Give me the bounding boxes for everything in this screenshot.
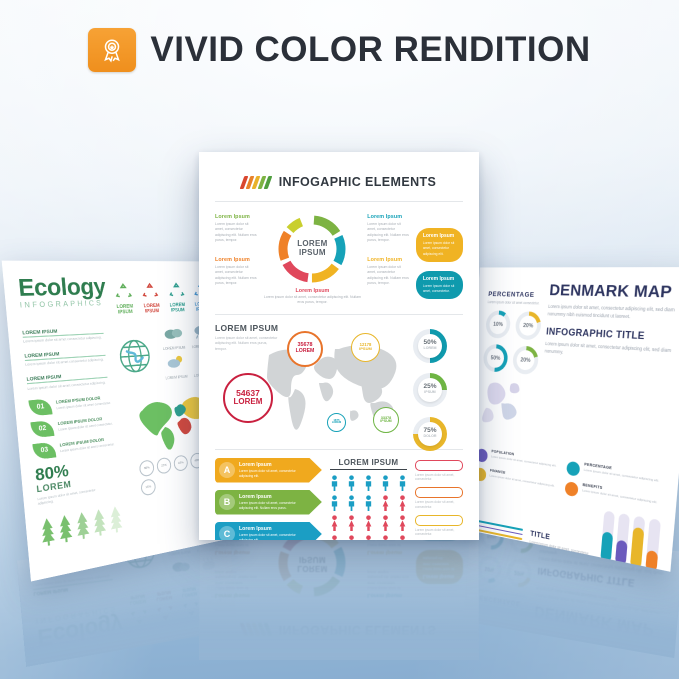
arrow-step[interactable]: C Lorem Ipsum Lorem ipsum dolor sit amet… bbox=[215, 522, 322, 541]
recycle-icon bbox=[141, 282, 160, 297]
center-header: INFOGAPHIC ELEMENTS bbox=[215, 166, 463, 193]
arrow-step[interactable]: A Lorem Ipsum Lorem ipsum dolor sit amet… bbox=[215, 458, 322, 483]
donut-label-title: Lorem Ipsum bbox=[215, 214, 258, 220]
step-title: Lorem Ipsum bbox=[239, 494, 301, 500]
bottom-section: A Lorem Ipsum Lorem ipsum dolor sit amet… bbox=[215, 458, 463, 541]
eco-stat: 80% LOREM Lorem ipsum dolor sit amet, co… bbox=[35, 454, 136, 507]
step-letter: A bbox=[219, 462, 235, 478]
weather-label: LOREM IPSUM bbox=[162, 345, 187, 351]
donut-label-title: Lorem Ipsum bbox=[215, 549, 258, 555]
tube-label: 75% bbox=[614, 565, 625, 572]
percent-ring-value: 25% IPSUM bbox=[418, 378, 442, 402]
callout-title: LOREM IPSUM bbox=[33, 580, 113, 598]
center-title: INFOGAPHIC ELEMENTS bbox=[279, 175, 437, 189]
donut-chart: LOREM IPSUM bbox=[275, 212, 349, 286]
pill-card-list: Lorem Ipsum Lorem ipsum dolor sit amet, … bbox=[416, 540, 463, 602]
denmark-sub-body: Lorem ipsum dolor sit amet, consectetur … bbox=[544, 340, 676, 363]
percent-ring: 20% bbox=[515, 311, 542, 340]
recycle-label: LOREM bbox=[179, 590, 200, 598]
donut-labels-left: Lorem Ipsum Lorem ipsum dolor sit amet, … bbox=[215, 210, 258, 306]
denmark-content: PERCENTAGE Lorem ipsum dolor sit amet co… bbox=[460, 267, 679, 572]
step-body: Lorem ipsum dolor sit amet, consectetur … bbox=[239, 501, 301, 511]
donut-label: Lorem Ipsum Lorem ipsum dolor sit amet, … bbox=[264, 288, 362, 306]
donut-label-title: Lorem Ipsum bbox=[215, 592, 258, 598]
center-title: INFOGAPHIC ELEMENTS bbox=[279, 623, 437, 637]
people-rule bbox=[330, 469, 407, 471]
person-icon bbox=[347, 495, 356, 511]
ecology-title: Ecology bbox=[36, 597, 226, 650]
donut-label: Lorem Ipsum Lorem ipsum dolor sit amet, … bbox=[215, 568, 258, 598]
tube-bar bbox=[600, 511, 615, 563]
map-pin-badge: 15% bbox=[140, 478, 156, 496]
percent-ring: 50% bbox=[483, 344, 509, 373]
denmark-title: DENMARK MAP bbox=[534, 602, 664, 641]
recycle-label: IPSUM bbox=[126, 592, 148, 601]
donut-label: Lorem Ipsum Lorem ipsum dolor sit amet, … bbox=[367, 540, 410, 555]
donut-label-title: Lorem Ipsum bbox=[367, 549, 410, 555]
person-icon bbox=[330, 495, 339, 511]
divider bbox=[215, 201, 463, 202]
callout-item: LOREM IPSUM Lorem ipsum dolor sit amet c… bbox=[24, 348, 105, 368]
striped-slash-logo bbox=[239, 624, 272, 637]
leaf-icon: 01 bbox=[28, 398, 52, 416]
recycle-item: LOREM IPSUM bbox=[112, 283, 137, 316]
people-row bbox=[330, 495, 407, 511]
people-title: LOREM IPSUM bbox=[330, 458, 407, 467]
striped-slash-logo bbox=[239, 176, 272, 189]
percent-ring: 20% bbox=[506, 558, 533, 589]
award-ribbon-icon bbox=[88, 28, 136, 72]
percent-ring-value: 50% LOREM bbox=[418, 334, 442, 358]
page-title: VIVID COLOR RENDITION bbox=[150, 30, 590, 70]
person-icon bbox=[330, 535, 339, 540]
person-icon bbox=[398, 495, 407, 511]
bar-pill bbox=[415, 515, 463, 526]
weather-item: LOREM IPSUM bbox=[163, 353, 189, 380]
step-title: Lorem Ipsum bbox=[239, 526, 301, 532]
donut-labels-right: Lorem Ipsum Lorem ipsum dolor sit amet, … bbox=[367, 210, 410, 306]
bar-item: Lorem ipsum dolor sit amet, consectetur. bbox=[415, 515, 463, 538]
donut-label-title: Lorem Ipsum bbox=[367, 592, 410, 598]
center-header: INFOGAPHIC ELEMENTS bbox=[215, 619, 463, 646]
denmark-map-graphic bbox=[478, 375, 533, 442]
bar-text: Lorem ipsum dolor sit amet, consectetur. bbox=[415, 528, 463, 538]
donut-label-body: Lorem ipsum dolor sit amet, consectetur … bbox=[215, 540, 258, 547]
person-icon bbox=[398, 515, 407, 531]
donut-label-body: Lorem ipsum dolor sit amet, consectetur … bbox=[215, 568, 258, 590]
weather-item: LOREM IPSUM bbox=[167, 550, 193, 578]
reflection-body: INFOGAPHIC ELEMENTS Lorem Ipsum Lorem ip… bbox=[199, 540, 479, 660]
pill-card[interactable]: Lorem Ipsum Lorem ipsum dolor sit amet, … bbox=[416, 550, 463, 584]
weather-item: LOREM IPSUM bbox=[160, 324, 186, 350]
person-icon bbox=[364, 535, 373, 540]
person-icon bbox=[347, 515, 356, 531]
percent-value: 10% bbox=[485, 310, 511, 339]
person-icon bbox=[398, 475, 407, 491]
percent-value: 20% bbox=[506, 558, 533, 589]
weather-item: LOREM IPSUM bbox=[196, 547, 221, 574]
tree-icon bbox=[91, 507, 107, 538]
donut-label-body: Lorem ipsum dolor sit amet, consectetur … bbox=[367, 265, 410, 287]
map-marker: 33378 IPSUM bbox=[373, 407, 399, 433]
recycle-item: LOREM IPSUM bbox=[165, 282, 188, 313]
percentage-header: PERCENTAGE bbox=[488, 291, 542, 299]
reflection-center: INFOGAPHIC ELEMENTS Lorem Ipsum Lorem ip… bbox=[199, 540, 479, 660]
tree-icon bbox=[108, 504, 124, 534]
donut-label-body: Lorem ipsum dolor sit amet, consectetur … bbox=[367, 222, 410, 244]
people-pictogram-chart: LOREM IPSUM bbox=[330, 458, 407, 541]
ecology-subtitle: INFOGRAPHICS bbox=[36, 589, 225, 624]
percentage-ring-grid: 10% 20% 50% 20% bbox=[483, 310, 546, 375]
recycle-item: LOREM IPSUM bbox=[153, 588, 177, 622]
donut-label-title: Lorem Ipsum bbox=[367, 257, 410, 263]
donut-label: Lorem Ipsum Lorem ipsum dolor sit amet, … bbox=[215, 540, 258, 555]
callout-item: LOREM IPSUM Lorem ipsum dolor sit amet c… bbox=[22, 326, 104, 345]
bar-text: Lorem ipsum dolor sit amet, consectetur. bbox=[415, 473, 463, 483]
bar-pill bbox=[415, 487, 463, 498]
recycle-label: IPSUM bbox=[141, 308, 163, 314]
person-icon bbox=[347, 475, 356, 491]
person-icon bbox=[330, 475, 339, 491]
sun-cloud-icon bbox=[165, 353, 187, 369]
pill-title: Lorem Ipsum bbox=[423, 233, 456, 239]
denmark-map-poster[interactable]: PERCENTAGE Lorem ipsum dolor sit amet co… bbox=[460, 267, 679, 572]
person-icon bbox=[381, 515, 390, 531]
pill-body: Lorem ipsum dolor sit amet, consectetur … bbox=[423, 241, 456, 257]
percent-value: 20% bbox=[512, 345, 539, 375]
arrow-step[interactable]: B Lorem Ipsum Lorem ipsum dolor sit amet… bbox=[215, 490, 322, 515]
bar-list: Lorem ipsum dolor sit amet, consectetur.… bbox=[415, 458, 463, 541]
recycle-label: IPSUM bbox=[204, 582, 224, 590]
donut-label: Lorem Ipsum Lorem ipsum dolor sit amet, … bbox=[367, 568, 410, 598]
product-marketing-image: VIVID COLOR RENDITION Ecology INFOGRAPHI… bbox=[0, 0, 679, 679]
tube-bar bbox=[615, 513, 630, 566]
tube-bar bbox=[630, 516, 645, 570]
person-icon bbox=[381, 475, 390, 491]
recycle-icon bbox=[157, 605, 175, 622]
recycle-icon bbox=[207, 597, 224, 614]
denmark-body: Lorem ipsum dolor sit amet, consectetur … bbox=[547, 303, 679, 323]
item-dot bbox=[566, 461, 580, 477]
infographic-elements-poster[interactable]: INFOGAPHIC ELEMENTS Lorem Ipsum Lorem ip… bbox=[199, 152, 479, 540]
denmark-title: DENMARK MAP bbox=[549, 281, 679, 302]
person-icon bbox=[330, 515, 339, 531]
bar-item: Lorem ipsum dolor sit amet, consectetur. bbox=[415, 460, 463, 483]
arrow-step-list: A Lorem Ipsum Lorem ipsum dolor sit amet… bbox=[215, 458, 322, 541]
tube-bar bbox=[645, 518, 661, 571]
tree-icon bbox=[74, 509, 90, 540]
percent-ring: 10% bbox=[477, 554, 503, 584]
pill-body: Lorem ipsum dolor sit amet, consectetur … bbox=[423, 555, 456, 571]
donut-chart: LOREM IPSUM bbox=[275, 540, 349, 600]
person-icon bbox=[381, 495, 390, 511]
person-icon bbox=[364, 475, 373, 491]
tree-icon bbox=[57, 512, 74, 544]
percent-value: 10% bbox=[477, 554, 503, 584]
recycle-label: IPSUM bbox=[153, 588, 174, 597]
center-content: INFOGAPHIC ELEMENTS Lorem Ipsum Lorem ip… bbox=[199, 540, 479, 660]
map-pin-badge: 20% bbox=[156, 456, 171, 474]
donut-labels-left: Lorem Ipsum Lorem ipsum dolor sit amet, … bbox=[215, 540, 258, 602]
pill-card[interactable]: Lorem Ipsum Lorem ipsum dolor sit amet, … bbox=[416, 271, 463, 300]
percent-value: 50% bbox=[483, 344, 509, 373]
leaf-icon: 03 bbox=[32, 441, 56, 460]
map-section: LOREM IPSUM Lorem ipsum dolor sit amet, … bbox=[215, 323, 463, 441]
recycle-label: IPSUM bbox=[167, 307, 188, 313]
step-title: Lorem Ipsum bbox=[239, 462, 301, 468]
recycle-label: LOREM bbox=[204, 587, 224, 595]
leaf-step-list: 01 LOREM IPSUM DOLOR Lorem ipsum dolor s… bbox=[28, 391, 131, 460]
donut-label-title: Lorem Ipsum bbox=[367, 214, 410, 220]
percent-value: 20% bbox=[515, 311, 542, 340]
percent-ring: 50% LOREM bbox=[413, 329, 447, 363]
donut-label-body: Lorem ipsum dolor sit amet, consectetur … bbox=[264, 295, 362, 306]
recycle-label: IPSUM bbox=[114, 309, 137, 315]
percent-ring-list: 50% LOREM 25% IPSUM 75% DOLOR bbox=[399, 329, 461, 451]
divider bbox=[215, 314, 463, 315]
pill-card[interactable]: Lorem Ipsum Lorem ipsum dolor sit amet, … bbox=[416, 540, 463, 541]
map-marker: 54637 LOREM bbox=[223, 373, 273, 423]
tube-chart: 70% 75% 90% 40% bbox=[600, 511, 661, 572]
percent-ring-value: 75% DOLOR bbox=[418, 422, 442, 446]
recycle-icon bbox=[114, 283, 133, 299]
step-letter: C bbox=[219, 526, 235, 540]
bar-item: Lorem ipsum dolor sit amet, consectetur. bbox=[415, 487, 463, 510]
recycle-label: LOREM bbox=[127, 598, 149, 607]
person-icon bbox=[364, 495, 373, 511]
pill-card[interactable]: Lorem Ipsum Lorem ipsum dolor sit amet, … bbox=[416, 228, 463, 262]
donut-section: Lorem Ipsum Lorem ipsum dolor sit amet, … bbox=[215, 540, 463, 602]
donut-label-body: Lorem ipsum dolor sit amet, consectetur … bbox=[215, 222, 258, 244]
person-icon bbox=[381, 535, 390, 540]
donut-label-body: Lorem ipsum dolor sit amet, consectetur … bbox=[215, 265, 258, 287]
person-icon bbox=[347, 535, 356, 540]
recycle-item: LOREM IPSUM bbox=[179, 585, 202, 618]
donut-labels-right: Lorem Ipsum Lorem ipsum dolor sit amet, … bbox=[367, 540, 410, 602]
recycle-icon bbox=[167, 282, 185, 297]
chart-text: TITLE Lorem ipsum dolor sit amet, consec… bbox=[529, 530, 594, 564]
tree-icon bbox=[39, 515, 56, 547]
recycle-icon-row: LOREM IPSUM LOREM IPSUM LOREM IPSUM bbox=[126, 582, 225, 627]
pill-title: Lorem Ipsum bbox=[423, 573, 456, 579]
pill-title: Lorem Ipsum bbox=[423, 276, 456, 282]
denmark-body: Lorem ipsum dolor sit amet, consectetur … bbox=[535, 584, 665, 618]
recycle-label: LOREM bbox=[154, 594, 175, 603]
item-dot bbox=[565, 481, 579, 497]
globe-icon bbox=[109, 330, 159, 382]
header-banner: VIVID COLOR RENDITION bbox=[0, 28, 679, 72]
person-icon bbox=[398, 535, 407, 540]
people-row bbox=[330, 515, 407, 531]
divider bbox=[215, 610, 463, 611]
donut-section: Lorem Ipsum Lorem ipsum dolor sit amet, … bbox=[215, 210, 463, 306]
recycle-icon-row: LOREM IPSUM LOREM IPSUM LOREM IPSUM bbox=[112, 282, 213, 316]
recycle-icon bbox=[182, 601, 199, 618]
donut-label: Lorem Ipsum Lorem ipsum dolor sit amet, … bbox=[367, 214, 410, 244]
percent-ring: 20% bbox=[512, 345, 539, 375]
map-pin-badge: 10% bbox=[173, 454, 188, 472]
bar-pill bbox=[415, 460, 463, 471]
percent-ring: 25% IPSUM bbox=[413, 373, 447, 407]
recycle-label: IPSUM bbox=[179, 585, 200, 593]
pill-card-list: Lorem Ipsum Lorem ipsum dolor sit amet, … bbox=[416, 210, 463, 306]
recycle-item: LOREM IPSUM bbox=[139, 282, 163, 314]
percentage-header: PERCENTAGE bbox=[475, 593, 528, 608]
cloud-icon bbox=[170, 560, 191, 577]
weather-label: LOREM IPSUM bbox=[196, 547, 219, 554]
percentage-body: Lorem ipsum dolor sit amet consectetur. bbox=[476, 586, 528, 599]
ecology-callouts: LOREM IPSUM Lorem ipsum dolor sit amet c… bbox=[22, 326, 108, 392]
percentage-body: Lorem ipsum dolor sit amet consectetur. bbox=[487, 300, 540, 307]
step-body: Lorem ipsum dolor sit amet, consectetur … bbox=[239, 469, 301, 479]
cloud-icon bbox=[162, 324, 184, 340]
recycle-icon bbox=[130, 609, 149, 627]
step-body: Lorem ipsum dolor sit amet, consectetur … bbox=[239, 533, 301, 540]
donut-label: Lorem Ipsum Lorem ipsum dolor sit amet, … bbox=[367, 257, 410, 287]
tube-label: 70% bbox=[600, 562, 611, 569]
map-pin-badge: 30% bbox=[139, 459, 155, 477]
recycle-item: LOREM IPSUM bbox=[126, 592, 150, 627]
pill-body: Lorem ipsum dolor sit amet, consectetur. bbox=[423, 284, 456, 295]
bar-text: Lorem ipsum dolor sit amet, consectetur. bbox=[415, 500, 463, 510]
people-row bbox=[330, 535, 407, 540]
donut-label-body: Lorem ipsum dolor sit amet, consectetur … bbox=[367, 540, 410, 547]
recycle-item: LOREM IPSUM bbox=[204, 582, 226, 615]
donut-label-body: Lorem ipsum dolor sit amet, consectetur … bbox=[367, 568, 410, 590]
center-content: INFOGAPHIC ELEMENTS Lorem Ipsum Lorem ip… bbox=[199, 152, 479, 540]
person-icon bbox=[364, 515, 373, 531]
denmark-subtitle: INFOGRAPHIC TITLE bbox=[537, 565, 667, 592]
percent-ring: 75% DOLOR bbox=[413, 417, 447, 451]
infographic-elements-poster[interactable]: INFOGAPHIC ELEMENTS Lorem Ipsum Lorem ip… bbox=[199, 540, 479, 660]
donut-label-title: Lorem Ipsum bbox=[264, 288, 362, 294]
map-marker: 12178 IPSUM bbox=[351, 333, 380, 362]
rain-cloud-icon bbox=[199, 557, 220, 574]
people-row bbox=[330, 475, 407, 491]
donut-label-title: Lorem Ipsum bbox=[215, 257, 258, 263]
percent-ring: 10% bbox=[485, 310, 511, 339]
map-marker: 35678 LOREM bbox=[287, 331, 323, 367]
donut-label: Lorem Ipsum Lorem ipsum dolor sit amet, … bbox=[215, 214, 258, 244]
step-letter: B bbox=[219, 494, 235, 510]
map-marker: 1875 LOREM bbox=[327, 413, 346, 432]
tube-label: 90% bbox=[629, 568, 640, 572]
donut-center-label: LOREM IPSUM bbox=[291, 542, 333, 584]
donut-label: Lorem Ipsum Lorem ipsum dolor sit amet, … bbox=[215, 257, 258, 287]
leaf-icon: 02 bbox=[30, 419, 54, 438]
